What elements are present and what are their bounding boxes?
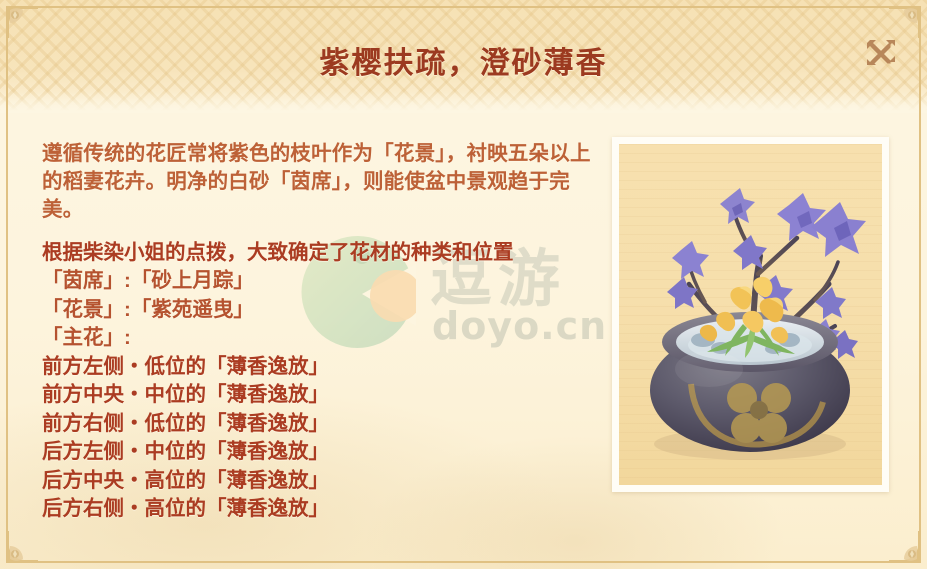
recipe-text-column: 遵循传统的花匠常将紫色的枝叶作为「花景」，衬映五朵以上的稻妻花卉。明净的白砂「茵… xyxy=(42,140,597,524)
close-button[interactable] xyxy=(863,36,899,72)
list-item: 前方左侧・低位的「薄香逸放」 xyxy=(42,353,597,382)
ikebana-illustration xyxy=(619,144,882,485)
flower-arrangement-dialog: 逗游 doyo.cn 紫樱扶疏，澄砂薄香 xyxy=(0,0,927,569)
list-item: 后方右侧・高位的「薄香逸放」 xyxy=(42,495,597,524)
corner-flourish-icon xyxy=(4,531,38,565)
corner-ornament-bottom-right xyxy=(889,531,923,565)
spec-list: 「茵席」:「砂上月踪」 「花景」:「紫苑遥曳」 「主花」: xyxy=(42,267,597,353)
list-item: 前方右侧・低位的「薄香逸放」 xyxy=(42,410,597,439)
intro-paragraph: 遵循传统的花匠常将紫色的枝叶作为「花景」，衬映五朵以上的稻妻花卉。明净的白砂「茵… xyxy=(42,140,597,224)
arrangement-preview-image xyxy=(619,144,882,485)
main-flower-list: 前方左侧・低位的「薄香逸放」 前方中央・中位的「薄香逸放」 前方右侧・低位的「薄… xyxy=(42,353,597,524)
list-item: 前方中央・中位的「薄香逸放」 xyxy=(42,381,597,410)
close-x-icon xyxy=(863,36,899,72)
list-item: 「花景」:「紫苑遥曳」 xyxy=(42,296,597,325)
recipe-heading: 根据柴染小姐的点拨，大致确定了花材的种类和位置 xyxy=(42,238,597,267)
list-item: 「茵席」:「砂上月踪」 xyxy=(42,267,597,296)
dialog-title: 紫樱扶疏，澄砂薄香 xyxy=(0,38,927,82)
list-item: 后方中央・高位的「薄香逸放」 xyxy=(42,467,597,496)
arrangement-preview-frame xyxy=(612,137,889,492)
corner-flourish-icon xyxy=(889,531,923,565)
list-item: 「主花」: xyxy=(42,324,597,353)
list-item: 后方左侧・中位的「薄香逸放」 xyxy=(42,438,597,467)
corner-ornament-bottom-left xyxy=(4,531,38,565)
